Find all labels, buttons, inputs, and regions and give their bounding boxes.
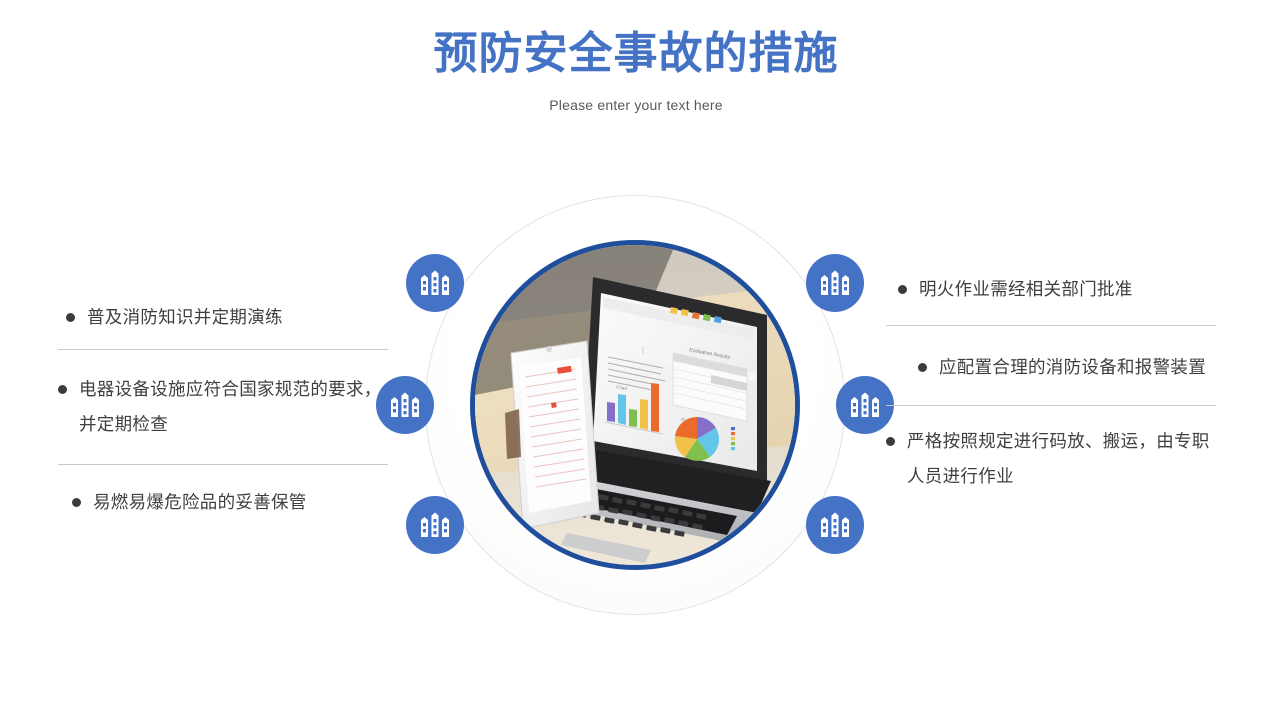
right-text-column: 明火作业需经相关部门批准 应配置合理的消防设备和报警装置 严格按照规定进行码放、…	[886, 272, 1216, 494]
list-item[interactable]: 易燃易爆危险品的妥善保管	[58, 485, 388, 520]
spacer	[58, 465, 388, 485]
badge-top-right[interactable]	[806, 254, 864, 312]
list-item[interactable]: 应配置合理的消防设备和报警装置	[886, 350, 1216, 385]
list-item[interactable]: 电器设备设施应符合国家规范的要求，并定期检查	[58, 372, 388, 442]
buildings-icon	[850, 392, 880, 418]
spacer	[58, 442, 388, 464]
slide-canvas: 预防安全事故的措施 Please enter your text here	[0, 0, 1272, 709]
badge-top-left[interactable]	[406, 254, 464, 312]
spacer	[58, 335, 388, 349]
buildings-icon	[420, 270, 450, 296]
buildings-icon	[420, 512, 450, 538]
bullet-icon	[918, 363, 927, 372]
laptop-and-tablet-photo: Evaluation Results Chart Pie Chart	[475, 245, 795, 565]
buildings-icon	[820, 270, 850, 296]
bullet-icon	[58, 385, 67, 394]
bullet-icon	[72, 498, 81, 507]
page-title: 预防安全事故的措施	[0, 26, 1272, 82]
buildings-icon	[390, 392, 420, 418]
spacer	[886, 385, 1216, 405]
bullet-icon	[898, 285, 907, 294]
spacer	[886, 326, 1216, 350]
bullet-icon	[66, 313, 75, 322]
badge-bottom-left[interactable]	[406, 496, 464, 554]
spacer	[886, 307, 1216, 325]
center-photo-circle: Evaluation Results Chart Pie Chart	[470, 240, 800, 570]
list-item-label: 应配置合理的消防设备和报警装置	[939, 350, 1216, 385]
buildings-icon	[820, 512, 850, 538]
center-graphic: Evaluation Results Chart Pie Chart	[425, 195, 845, 615]
list-item-label: 严格按照规定进行码放、搬运，由专职人员进行作业	[907, 424, 1216, 494]
badge-bottom-right[interactable]	[806, 496, 864, 554]
list-item-label: 易燃易爆危险品的妥善保管	[93, 485, 388, 520]
list-item[interactable]: 严格按照规定进行码放、搬运，由专职人员进行作业	[886, 424, 1216, 494]
bullet-icon	[886, 437, 895, 446]
page-subtitle: Please enter your text here	[0, 95, 1272, 115]
list-item[interactable]: 明火作业需经相关部门批准	[886, 272, 1216, 307]
list-item-label: 普及消防知识并定期演练	[87, 300, 388, 335]
spacer	[58, 350, 388, 372]
list-item-label: 电器设备设施应符合国家规范的要求，并定期检查	[79, 372, 388, 442]
spacer	[886, 406, 1216, 424]
list-item[interactable]: 普及消防知识并定期演练	[58, 300, 388, 335]
left-text-column: 普及消防知识并定期演练 电器设备设施应符合国家规范的要求，并定期检查 易燃易爆危…	[58, 300, 388, 520]
list-item-label: 明火作业需经相关部门批准	[919, 272, 1216, 307]
